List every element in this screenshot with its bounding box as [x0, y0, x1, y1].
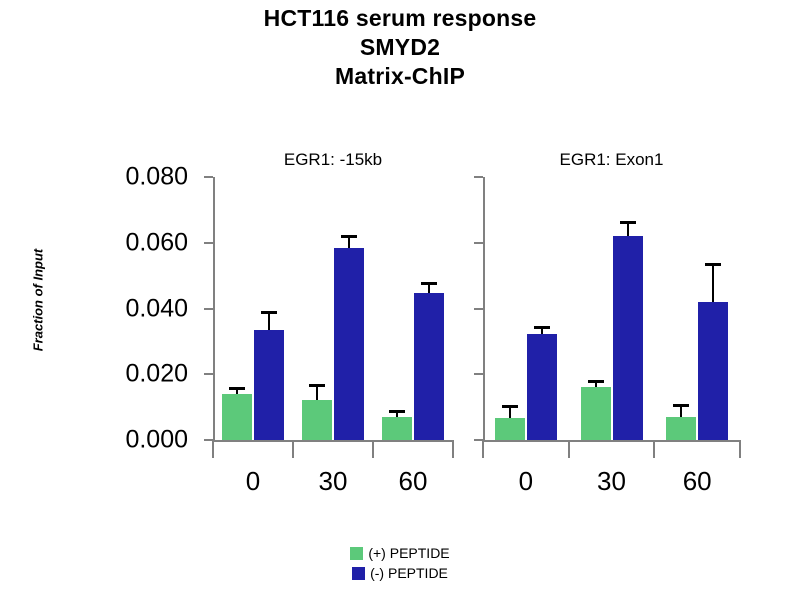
bar[interactable] [666, 417, 696, 440]
error-bar-cap [502, 405, 518, 408]
title-line-3: Matrix-ChIP [0, 62, 800, 91]
panel-title: EGR1: -15kb [213, 150, 453, 170]
error-bar-cap [673, 404, 689, 407]
error-bar [595, 383, 597, 387]
legend-item-negative-peptide: (-) PEPTIDE [352, 563, 448, 583]
plot-panel-egr1-15kb: EGR1: -15kb [213, 177, 453, 440]
bar-slot [254, 177, 284, 440]
error-bar [396, 413, 398, 417]
bar-slot [495, 177, 525, 440]
x-axis-tick-mark [482, 440, 484, 458]
bar-slot [613, 177, 643, 440]
y-axis-tick-mark [474, 242, 483, 244]
y-axis-label: Fraction of Input [31, 200, 46, 400]
bar-groups [483, 177, 740, 440]
error-bar [316, 387, 318, 399]
y-axis-tick-mark [474, 308, 483, 310]
error-bar-cap [705, 263, 721, 266]
x-axis-tick-label: 60 [654, 466, 740, 500]
bar-slot [302, 177, 332, 440]
y-axis-tick-label: 0.060 [125, 230, 188, 255]
error-bar-cap [389, 410, 405, 413]
bar[interactable] [222, 394, 252, 440]
error-bar-cap [620, 221, 636, 224]
error-bar [348, 238, 350, 247]
plot-panel-egr1-exon1: EGR1: Exon1 [483, 177, 740, 440]
bar[interactable] [414, 293, 444, 440]
x-axis-tick-mark [292, 440, 294, 458]
x-axis-tick-labels-left: 03060 [213, 466, 453, 500]
bar-slot [698, 177, 728, 440]
y-axis-tick-mark [204, 373, 213, 375]
error-bar [712, 266, 714, 302]
x-axis-tick-label: 30 [569, 466, 655, 500]
x-axis-tick-label: 60 [373, 466, 453, 500]
bar-groups [213, 177, 453, 440]
y-axis-tick-labels: 0.0000.0200.0400.0600.080 [88, 177, 188, 440]
legend-item-positive-peptide: (+) PEPTIDE [350, 543, 449, 563]
error-bar-cap [534, 326, 550, 329]
chart-legend: (+) PEPTIDE (-) PEPTIDE [0, 543, 800, 583]
error-bar [541, 329, 543, 334]
error-bar [428, 285, 430, 293]
bar-group [293, 177, 373, 440]
y-axis-tick-label: 0.000 [125, 428, 188, 453]
chart-title: HCT116 serum response SMYD2 Matrix-ChIP [0, 4, 800, 91]
bar-slot [414, 177, 444, 440]
x-axis-tick-label: 0 [483, 466, 569, 500]
y-axis-tick-label: 0.040 [125, 296, 188, 321]
legend-swatch-icon [352, 567, 365, 580]
bar-slot [382, 177, 412, 440]
x-axis-line [213, 440, 453, 442]
error-bar-cap [309, 384, 325, 387]
x-axis-tick-label: 30 [293, 466, 373, 500]
error-bar [268, 314, 270, 330]
bar-slot [527, 177, 557, 440]
y-axis-tick-mark [474, 176, 483, 178]
y-axis-tick-mark [204, 242, 213, 244]
chart-figure: HCT116 serum response SMYD2 Matrix-ChIP … [0, 0, 800, 600]
bar-group [483, 177, 569, 440]
error-bar-cap [261, 311, 277, 314]
x-axis-tick-mark [212, 440, 214, 458]
x-axis-tick-labels-right: 03060 [483, 466, 740, 500]
legend-label: (-) PEPTIDE [370, 565, 448, 581]
bar[interactable] [302, 400, 332, 440]
bar[interactable] [581, 387, 611, 440]
panel-title: EGR1: Exon1 [483, 150, 740, 170]
bar[interactable] [382, 417, 412, 440]
x-axis-tick-mark [653, 440, 655, 458]
legend-swatch-icon [350, 547, 363, 560]
error-bar [680, 407, 682, 417]
bar-slot [581, 177, 611, 440]
bar[interactable] [698, 302, 728, 440]
x-axis-tick-mark [739, 440, 741, 458]
error-bar [236, 390, 238, 394]
x-axis-tick-mark [568, 440, 570, 458]
title-line-2: SMYD2 [0, 33, 800, 62]
title-line-1: HCT116 serum response [0, 4, 800, 33]
legend-label: (+) PEPTIDE [368, 545, 449, 561]
bar[interactable] [613, 236, 643, 440]
y-axis-tick-mark [204, 176, 213, 178]
x-axis-tick-mark [452, 440, 454, 458]
error-bar [509, 408, 511, 418]
y-axis-tick-label: 0.080 [125, 165, 188, 190]
x-axis-tick-mark [372, 440, 374, 458]
y-axis-tick-label: 0.020 [125, 362, 188, 387]
x-axis-line [483, 440, 740, 442]
y-axis-tick-mark [474, 373, 483, 375]
y-axis-tick-mark [204, 308, 213, 310]
error-bar-cap [341, 235, 357, 238]
error-bar-cap [421, 282, 437, 285]
bar-group [654, 177, 740, 440]
bar-slot [334, 177, 364, 440]
bar-group [213, 177, 293, 440]
bar[interactable] [527, 334, 557, 440]
error-bar [627, 224, 629, 236]
bar[interactable] [334, 248, 364, 440]
x-axis-tick-label: 0 [213, 466, 293, 500]
bar[interactable] [495, 418, 525, 440]
error-bar-cap [229, 387, 245, 390]
bar[interactable] [254, 330, 284, 440]
bar-group [373, 177, 453, 440]
bar-slot [222, 177, 252, 440]
error-bar-cap [588, 380, 604, 383]
bar-slot [666, 177, 696, 440]
bar-group [569, 177, 655, 440]
